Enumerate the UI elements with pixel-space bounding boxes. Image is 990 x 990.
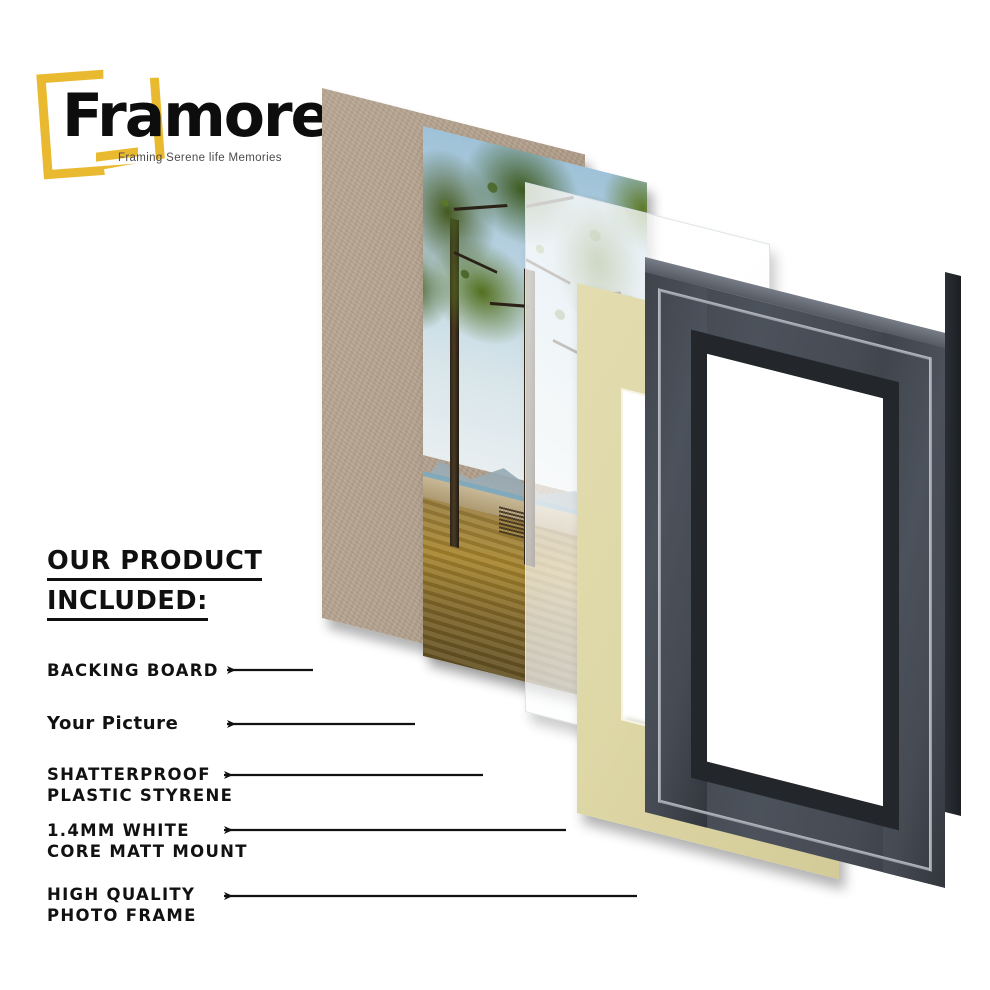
callout-line: Your Picture [47,712,178,735]
callout-line: CORE MATT MOUNT [47,841,248,862]
callout-line: BACKING BOARD [47,660,219,681]
page-title-line-2: INCLUDED: [47,586,208,621]
callout-line: PLASTIC STYRENE [47,785,233,806]
callout-photo-frame: HIGH QUALITY PHOTO FRAME [47,884,197,926]
frame-moulding [645,272,945,888]
frame-opening [707,354,883,807]
callout-shatterproof-plastic-styrene: SHATTERPROOF PLASTIC STYRENE [47,764,233,806]
page-title: OUR PRODUCT INCLUDED: [47,546,377,621]
callout-matt-mount: 1.4MM WHITE CORE MATT MOUNT [47,820,248,862]
callout-line: HIGH QUALITY [47,884,197,905]
frame-inner-lip-left [691,330,707,782]
frame-inner-lip-right [883,378,899,830]
frame-bevel-left [658,288,661,803]
page-title-line-1: OUR PRODUCT [47,546,262,581]
callout-line: 1.4MM WHITE [47,820,248,841]
frame-bevel-right [929,357,932,872]
callout-line: PHOTO FRAME [47,905,197,926]
callout-your-picture: Your Picture [47,712,178,735]
frame-side-depth [945,272,961,816]
infographic-canvas: Framorey Framing Serene life Memories [0,0,990,990]
layer-photo-frame [645,272,945,812]
callout-line: SHATTERPROOF [47,764,233,785]
callout-backing-board: BACKING BOARD [47,660,219,681]
